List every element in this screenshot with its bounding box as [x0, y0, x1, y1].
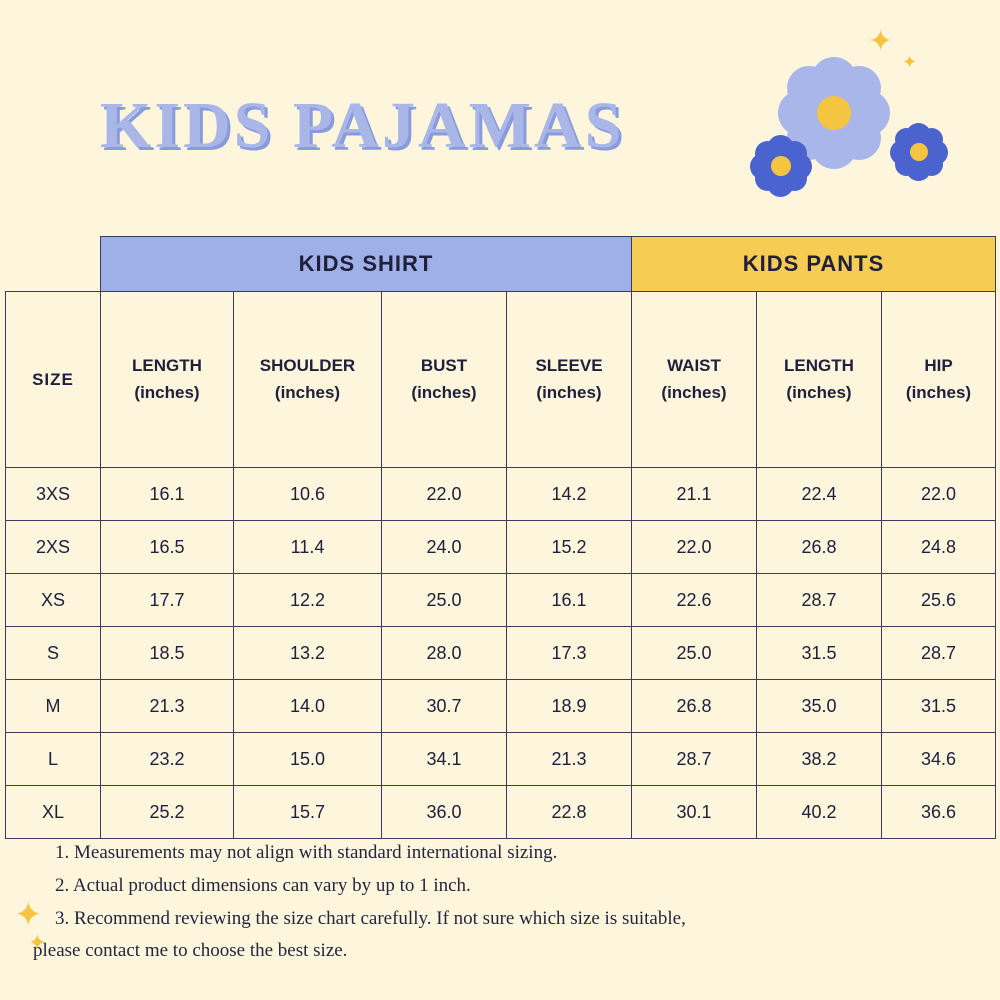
cell-value: 22.0	[882, 468, 996, 521]
cell-value: 18.5	[101, 627, 234, 680]
column-header-name: WAIST	[667, 356, 721, 375]
cell-value: 13.2	[234, 627, 382, 680]
cell-value: 31.5	[757, 627, 882, 680]
table-row: 3XS 16.1 10.6 22.0 14.2 21.1 22.4 22.0	[6, 468, 996, 521]
cell-value: 15.0	[234, 733, 382, 786]
cell-value: 23.2	[101, 733, 234, 786]
column-header-shirt-length: LENGTH (inches)	[101, 292, 234, 468]
table-column-header-row: SIZE LENGTH (inches) SHOULDER (inches) B…	[6, 292, 996, 468]
group-header-kids-shirt: KIDS SHIRT	[101, 237, 632, 292]
cell-value: 14.0	[234, 680, 382, 733]
table-row: XL 25.2 15.7 36.0 22.8 30.1 40.2 36.6	[6, 786, 996, 839]
cell-value: 22.8	[507, 786, 632, 839]
cell-value: 22.6	[632, 574, 757, 627]
cell-value: 21.1	[632, 468, 757, 521]
column-header-unit: (inches)	[105, 380, 229, 406]
cell-value: 25.0	[632, 627, 757, 680]
note-item: please contact me to choose the best siz…	[33, 936, 975, 967]
cell-value: 16.5	[101, 521, 234, 574]
cell-value: 40.2	[757, 786, 882, 839]
cell-size: 2XS	[6, 521, 101, 574]
column-header-pants-length: LENGTH (inches)	[757, 292, 882, 468]
column-header-name: LENGTH	[784, 356, 854, 375]
cell-value: 15.2	[507, 521, 632, 574]
cell-value: 34.6	[882, 733, 996, 786]
cell-value: 25.2	[101, 786, 234, 839]
cell-value: 25.6	[882, 574, 996, 627]
cell-value: 12.2	[234, 574, 382, 627]
table-row: S 18.5 13.2 28.0 17.3 25.0 31.5 28.7	[6, 627, 996, 680]
cell-value: 30.1	[632, 786, 757, 839]
cell-value: 21.3	[507, 733, 632, 786]
column-header-name: LENGTH	[132, 356, 202, 375]
page-title: KIDS PAJAMAS	[100, 88, 624, 164]
cell-size: 3XS	[6, 468, 101, 521]
table-row: L 23.2 15.0 34.1 21.3 28.7 38.2 34.6	[6, 733, 996, 786]
cell-value: 28.0	[382, 627, 507, 680]
flower-icon	[750, 135, 812, 197]
note-item: 3. Recommend reviewing the size chart ca…	[55, 904, 975, 935]
cell-value: 28.7	[632, 733, 757, 786]
column-header-sleeve: SLEEVE (inches)	[507, 292, 632, 468]
cell-value: 36.0	[382, 786, 507, 839]
cell-size: L	[6, 733, 101, 786]
column-header-shoulder: SHOULDER (inches)	[234, 292, 382, 468]
cell-value: 16.1	[101, 468, 234, 521]
cell-value: 34.1	[382, 733, 507, 786]
sparkle-icon: ✦	[14, 898, 43, 932]
cell-size: S	[6, 627, 101, 680]
cell-value: 30.7	[382, 680, 507, 733]
cell-value: 17.7	[101, 574, 234, 627]
cell-value: 36.6	[882, 786, 996, 839]
table-group-header-row: KIDS SHIRT KIDS PANTS	[6, 237, 996, 292]
cell-value: 26.8	[632, 680, 757, 733]
flower-icon	[890, 123, 948, 181]
cell-size: XL	[6, 786, 101, 839]
cell-value: 22.4	[757, 468, 882, 521]
column-header-unit: (inches)	[238, 380, 377, 406]
size-chart-table: KIDS SHIRT KIDS PANTS SIZE LENGTH (inche…	[5, 236, 995, 839]
cell-value: 22.0	[382, 468, 507, 521]
column-header-size: SIZE	[6, 292, 101, 468]
column-header-unit: (inches)	[761, 380, 877, 406]
cell-value: 28.7	[757, 574, 882, 627]
column-header-unit: (inches)	[511, 380, 627, 406]
column-header-unit: (inches)	[886, 380, 991, 406]
table-corner-cell	[6, 237, 101, 292]
cell-value: 28.7	[882, 627, 996, 680]
column-header-unit: (inches)	[636, 380, 752, 406]
column-header-name: HIP	[924, 356, 952, 375]
cell-value: 25.0	[382, 574, 507, 627]
table-row: M 21.3 14.0 30.7 18.9 26.8 35.0 31.5	[6, 680, 996, 733]
page-header: KIDS PAJAMAS ✦ ✦	[0, 0, 1000, 235]
cell-value: 26.8	[757, 521, 882, 574]
cell-value: 22.0	[632, 521, 757, 574]
cell-value: 18.9	[507, 680, 632, 733]
cell-value: 31.5	[882, 680, 996, 733]
column-header-name: SLEEVE	[535, 356, 602, 375]
cell-value: 24.8	[882, 521, 996, 574]
column-header-name: BUST	[421, 356, 467, 375]
column-header-waist: WAIST (inches)	[632, 292, 757, 468]
cell-size: M	[6, 680, 101, 733]
column-header-hip: HIP (inches)	[882, 292, 996, 468]
note-item: 2. Actual product dimensions can vary by…	[55, 871, 975, 902]
cell-value: 16.1	[507, 574, 632, 627]
note-item: 1. Measurements may not align with stand…	[55, 838, 975, 869]
cell-value: 38.2	[757, 733, 882, 786]
cell-value: 14.2	[507, 468, 632, 521]
cell-size: XS	[6, 574, 101, 627]
table-row: XS 17.7 12.2 25.0 16.1 22.6 28.7 25.6	[6, 574, 996, 627]
sparkle-icon: ✦	[902, 53, 917, 71]
column-header-bust: BUST (inches)	[382, 292, 507, 468]
cell-value: 17.3	[507, 627, 632, 680]
cell-value: 10.6	[234, 468, 382, 521]
column-header-name: SHOULDER	[260, 356, 355, 375]
cell-value: 35.0	[757, 680, 882, 733]
column-header-unit: (inches)	[386, 380, 502, 406]
group-header-kids-pants: KIDS PANTS	[632, 237, 996, 292]
cell-value: 24.0	[382, 521, 507, 574]
cell-value: 11.4	[234, 521, 382, 574]
cell-value: 15.7	[234, 786, 382, 839]
notes-list: 1. Measurements may not align with stand…	[55, 838, 975, 969]
sparkle-icon: ✦	[28, 932, 46, 954]
cell-value: 21.3	[101, 680, 234, 733]
flower-decoration: ✦ ✦	[750, 25, 980, 205]
table-row: 2XS 16.5 11.4 24.0 15.2 22.0 26.8 24.8	[6, 521, 996, 574]
sparkle-icon: ✦	[868, 27, 893, 57]
